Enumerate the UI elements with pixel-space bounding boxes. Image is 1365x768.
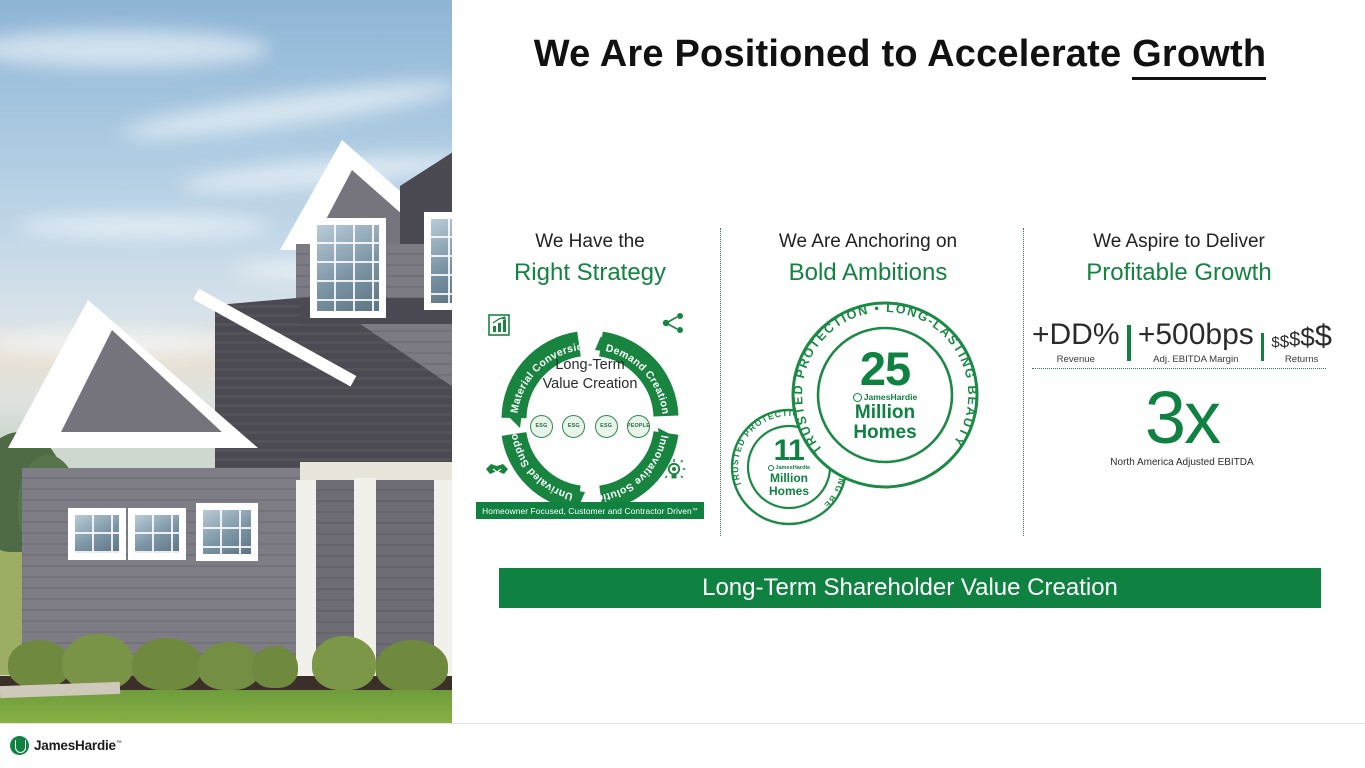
shrub bbox=[198, 642, 260, 690]
trademark-symbol: ™ bbox=[692, 508, 698, 514]
wheel-center-line1: Long-Term bbox=[532, 356, 648, 375]
metric-returns: $ $ $ $ $ Returns bbox=[1271, 321, 1332, 365]
dollar-icon: $ bbox=[1280, 334, 1289, 350]
highlight-metric-label: North America Adjusted EBITDA bbox=[1032, 457, 1332, 468]
seal-25-brand: JamesHardie bbox=[853, 392, 918, 402]
window bbox=[128, 508, 186, 560]
shareholder-value-banner: Long-Term Shareholder Value Creation bbox=[499, 568, 1321, 608]
esg-badge: ESG bbox=[530, 415, 553, 438]
house-photo bbox=[0, 0, 452, 723]
value-creation-wheel: Material Conversion Demand Creation Inno… bbox=[474, 306, 706, 536]
cloud bbox=[0, 30, 270, 68]
homes-seals-group: TRUSTED PROTECTION • LONG-LASTING BE 11 … bbox=[722, 300, 1014, 536]
window bbox=[68, 508, 126, 560]
seal-25-word2: Homes bbox=[853, 423, 916, 443]
cloud bbox=[20, 215, 270, 237]
dollar-icon: $ bbox=[1289, 331, 1300, 350]
banner-text: Long-Term Shareholder Value Creation bbox=[702, 574, 1118, 602]
dollar-icon: $ bbox=[1271, 336, 1279, 350]
jameshardie-mark-icon bbox=[853, 393, 862, 402]
metric-revenue-value: +DD% bbox=[1032, 320, 1120, 350]
esg-badge: ESG bbox=[595, 415, 618, 438]
jameshardie-mark-icon bbox=[10, 736, 29, 755]
gable-trim-board bbox=[55, 432, 230, 442]
handshake-icon bbox=[484, 458, 510, 485]
esg-badge: ESG bbox=[562, 415, 585, 438]
wheel-tagline-text: Homeowner Focused, Customer and Contract… bbox=[482, 506, 692, 516]
column-b-heading: Bold Ambitions bbox=[722, 257, 1014, 289]
seal-25-content: 25 JamesHardie Million Homes bbox=[790, 300, 980, 490]
shrub bbox=[132, 638, 202, 690]
metric-ebitda-margin: +500bps Adj. EBITDA Margin bbox=[1138, 320, 1254, 365]
jameshardie-mark-icon bbox=[768, 465, 774, 471]
cloud bbox=[120, 71, 452, 148]
page-title-underlined: Growth bbox=[1132, 33, 1266, 80]
seal-25-million-homes: TRUSTED PROTECTION • LONG-LASTING BEAUTY… bbox=[790, 300, 980, 490]
highlight-metric: 3x North America Adjusted EBITDA bbox=[1032, 385, 1332, 468]
metric-returns-label: Returns bbox=[1271, 354, 1332, 365]
window bbox=[310, 218, 386, 318]
shrub bbox=[62, 634, 134, 690]
metric-ebitda-label: Adj. EBITDA Margin bbox=[1138, 354, 1254, 365]
shrub bbox=[252, 646, 298, 688]
page-title: We Are Positioned to Accelerate Growth bbox=[460, 33, 1340, 76]
column-bold-ambitions: We Are Anchoring on Bold Ambitions TRUST… bbox=[722, 228, 1014, 538]
column-c-heading: Profitable Growth bbox=[1026, 257, 1332, 289]
column-b-eyebrow: We Are Anchoring on bbox=[722, 228, 1014, 256]
metrics-group: +DD% Revenue +500bps Adj. EBITDA Margin … bbox=[1032, 320, 1332, 468]
column-c-eyebrow: We Aspire to Deliver bbox=[1026, 228, 1332, 256]
column-divider bbox=[720, 228, 721, 536]
column-a-eyebrow: We Have the bbox=[470, 228, 710, 256]
dollar-icon: $ bbox=[1300, 325, 1314, 350]
column-profitable-growth: We Aspire to Deliver Profitable Growth +… bbox=[1026, 228, 1332, 538]
slide-footer: JamesHardie™ Note: See slide 8 for more … bbox=[0, 723, 1365, 768]
window bbox=[424, 212, 452, 310]
metrics-row: +DD% Revenue +500bps Adj. EBITDA Margin … bbox=[1032, 320, 1332, 365]
shrub bbox=[376, 640, 448, 692]
column-a-heading: Right Strategy bbox=[470, 257, 710, 289]
bar-chart-growth-icon bbox=[488, 314, 510, 341]
seal-25-word1: Million bbox=[855, 403, 915, 423]
lightbulb-idea-icon bbox=[662, 458, 686, 487]
column-right-strategy: We Have the Right Strategy bbox=[470, 228, 710, 538]
window bbox=[196, 503, 258, 561]
footer-divider bbox=[0, 723, 1365, 724]
wheel-tagline-bar: Homeowner Focused, Customer and Contract… bbox=[476, 502, 704, 519]
jameshardie-logo: JamesHardie™ bbox=[10, 736, 122, 755]
shrub bbox=[312, 636, 376, 690]
esg-badge-row: ESG ESG ESG PEOPLE bbox=[530, 414, 650, 438]
metric-returns-value: $ $ $ $ $ bbox=[1271, 321, 1332, 350]
wheel-center-line2: Value Creation bbox=[532, 375, 648, 394]
gable-face bbox=[60, 330, 224, 434]
jameshardie-wordmark: JamesHardie™ bbox=[34, 738, 122, 753]
shrub bbox=[8, 640, 70, 688]
jameshardie-wordmark-text: JamesHardie bbox=[34, 738, 116, 753]
metric-ebitda-value: +500bps bbox=[1138, 320, 1254, 350]
highlight-metric-value: 3x bbox=[1032, 385, 1332, 452]
slide: We Are Positioned to Accelerate Growth W… bbox=[0, 0, 1365, 768]
dollar-icon: $ bbox=[1315, 321, 1332, 350]
trademark-symbol: ™ bbox=[116, 741, 122, 747]
network-share-icon bbox=[662, 312, 686, 339]
seal-25-brand-text: JamesHardie bbox=[864, 392, 918, 402]
seal-25-number: 25 bbox=[860, 347, 910, 390]
metric-separator bbox=[1261, 333, 1265, 361]
three-column-section: We Have the Right Strategy bbox=[470, 228, 1332, 538]
metric-revenue-label: Revenue bbox=[1032, 354, 1120, 365]
metric-separator bbox=[1127, 325, 1131, 361]
page-title-main: We Are Positioned to Accelerate bbox=[534, 33, 1132, 75]
metric-revenue: +DD% Revenue bbox=[1032, 320, 1120, 365]
esg-badge: PEOPLE bbox=[627, 415, 650, 438]
metrics-underline bbox=[1032, 368, 1326, 369]
column-divider bbox=[1023, 228, 1024, 536]
